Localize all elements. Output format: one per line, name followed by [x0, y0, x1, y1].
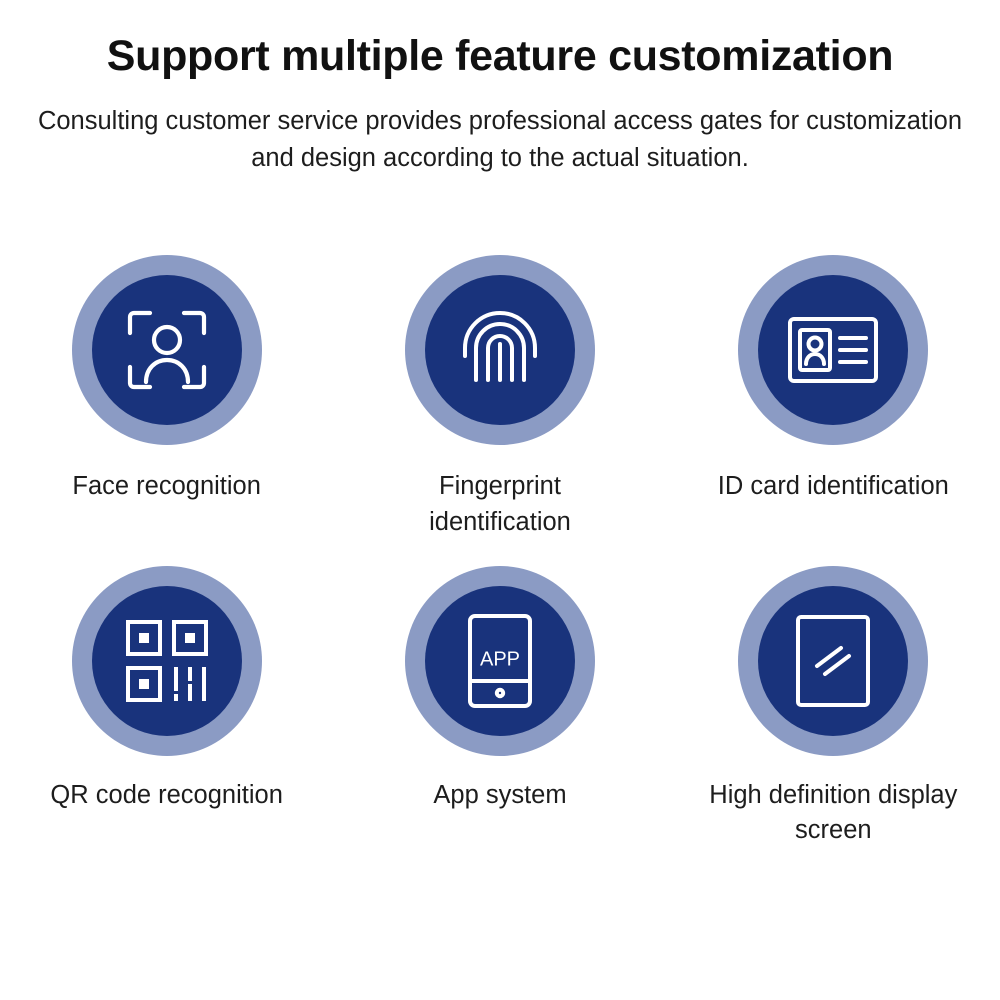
fingerprint-icon — [458, 308, 542, 392]
page-title: Support multiple feature customization — [0, 0, 1000, 81]
svg-text:APP: APP — [480, 648, 520, 670]
feature-item-face-recognition[interactable]: Face recognition — [0, 255, 333, 539]
feature-label: App system — [433, 778, 566, 813]
feature-item-qr-code-recognition[interactable]: QR code recognition — [0, 566, 333, 848]
feature-badge: APP — [405, 566, 595, 756]
feature-item-id-card-identification[interactable]: ID card identification — [667, 255, 1000, 539]
feature-item-app-system[interactable]: APP App system — [333, 566, 666, 848]
feature-label: High definition display screen — [703, 778, 963, 848]
page-subtitle: Consulting customer service provides pro… — [30, 103, 970, 177]
feature-label: QR code recognition — [50, 778, 282, 813]
id-card-icon — [787, 316, 879, 384]
feature-label: Face recognition — [72, 469, 261, 504]
qr-code-icon — [125, 619, 209, 703]
face-recognition-icon — [124, 307, 210, 393]
feature-badge — [405, 255, 595, 445]
feature-label: ID card identification — [718, 469, 949, 504]
feature-badge — [72, 255, 262, 445]
display-screen-icon — [795, 614, 871, 708]
feature-badge — [738, 566, 928, 756]
feature-badge-disc — [92, 586, 242, 736]
app-phone-icon: APP — [467, 613, 533, 709]
feature-grid: Face recognition Fingerprint identific — [0, 255, 1000, 848]
feature-badge-disc — [92, 275, 242, 425]
feature-badge-disc — [758, 275, 908, 425]
feature-badge — [738, 255, 928, 445]
feature-badge-disc — [425, 275, 575, 425]
feature-badge — [72, 566, 262, 756]
feature-item-display-screen[interactable]: High definition display screen — [667, 566, 1000, 848]
feature-badge-disc — [758, 586, 908, 736]
feature-badge-disc: APP — [425, 586, 575, 736]
feature-item-fingerprint-identification[interactable]: Fingerprint identification — [333, 255, 666, 539]
feature-customization-page: Support multiple feature customization C… — [0, 0, 1000, 1000]
feature-label: Fingerprint identification — [370, 469, 630, 539]
